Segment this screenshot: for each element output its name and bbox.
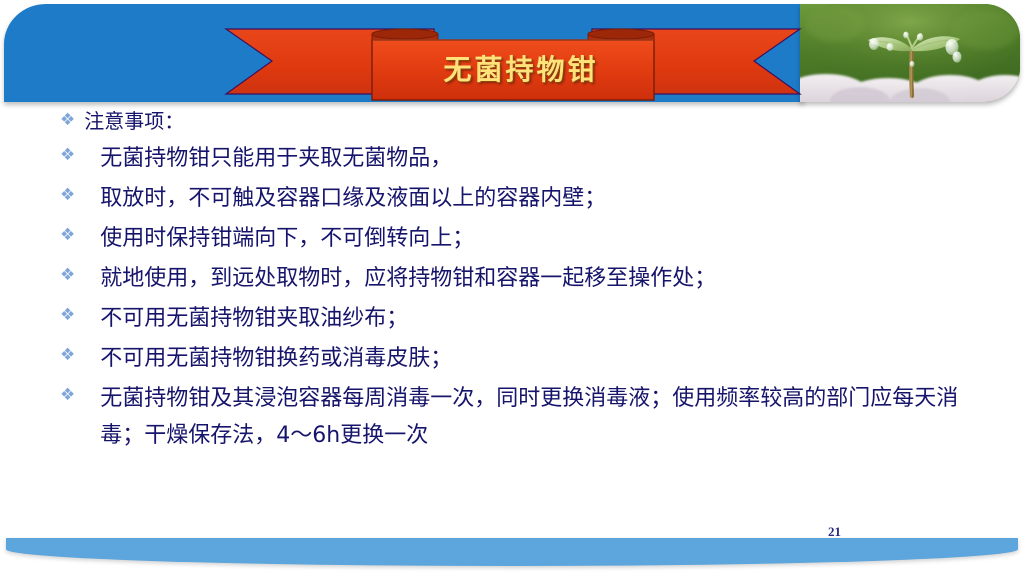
list-item: ❖ 使用时保持钳端向下，不可倒转向上； bbox=[0, 220, 1024, 257]
list-item: ❖ 注意事项： bbox=[0, 108, 1024, 135]
list-item: ❖ 无菌持物钳只能用于夹取无菌物品， bbox=[0, 140, 1024, 177]
list-item-label: 就地使用，到远处取物时，应将持物钳和容器一起移至操作处； bbox=[100, 260, 1024, 297]
diamond-bullet-icon: ❖ bbox=[60, 347, 75, 364]
list-item-label: 无菌持物钳及其浸泡容器每周消毒一次，同时更换消毒液；使用频率较高的部门应每天消毒… bbox=[100, 380, 1024, 454]
diamond-bullet-icon: ❖ bbox=[60, 112, 75, 129]
list-item-label: 取放时，不可触及容器口缘及液面以上的容器内壁； bbox=[100, 180, 1024, 217]
seedling-photo-graphic bbox=[800, 4, 1020, 102]
diamond-bullet-icon: ❖ bbox=[60, 147, 75, 164]
list-item: ❖ 不可用无菌持物钳换药或消毒皮肤； bbox=[0, 340, 1024, 377]
footer-bar bbox=[6, 538, 1018, 566]
list-item: ❖ 取放时，不可触及容器口缘及液面以上的容器内壁； bbox=[0, 180, 1024, 217]
diamond-bullet-icon: ❖ bbox=[60, 227, 75, 244]
list-item: ❖ 不可用无菌持物钳夹取油纱布； bbox=[0, 300, 1024, 337]
list-item-label: 无菌持物钳只能用于夹取无菌物品， bbox=[100, 140, 1024, 177]
diamond-bullet-icon: ❖ bbox=[60, 307, 75, 324]
seedling-photo bbox=[800, 4, 1020, 102]
diamond-bullet-icon: ❖ bbox=[60, 267, 75, 284]
slide-canvas: 无菌持物钳 ❖ 注意事项： ❖ 无菌持物钳只能用于夹取无菌物品， ❖ 取放时，不… bbox=[0, 0, 1024, 576]
slide-body: ❖ 注意事项： ❖ 无菌持物钳只能用于夹取无菌物品， ❖ 取放时，不可触及容器口… bbox=[0, 108, 1024, 508]
diamond-bullet-icon: ❖ bbox=[60, 387, 75, 404]
page-title: 无菌持物钳 bbox=[376, 48, 666, 88]
list-item-label: 注意事项： bbox=[84, 108, 1024, 135]
list-item-label: 不可用无菌持物钳夹取油纱布； bbox=[100, 300, 1024, 337]
diamond-bullet-icon: ❖ bbox=[60, 187, 75, 204]
slide-header: 无菌持物钳 bbox=[4, 4, 1020, 102]
list-item-label: 不可用无菌持物钳换药或消毒皮肤； bbox=[100, 340, 1024, 377]
list-item-label: 使用时保持钳端向下，不可倒转向上； bbox=[100, 220, 1024, 257]
list-item: ❖ 就地使用，到远处取物时，应将持物钳和容器一起移至操作处； bbox=[0, 260, 1024, 297]
list-item: ❖ 无菌持物钳及其浸泡容器每周消毒一次，同时更换消毒液；使用频率较高的部门应每天… bbox=[0, 380, 1024, 454]
